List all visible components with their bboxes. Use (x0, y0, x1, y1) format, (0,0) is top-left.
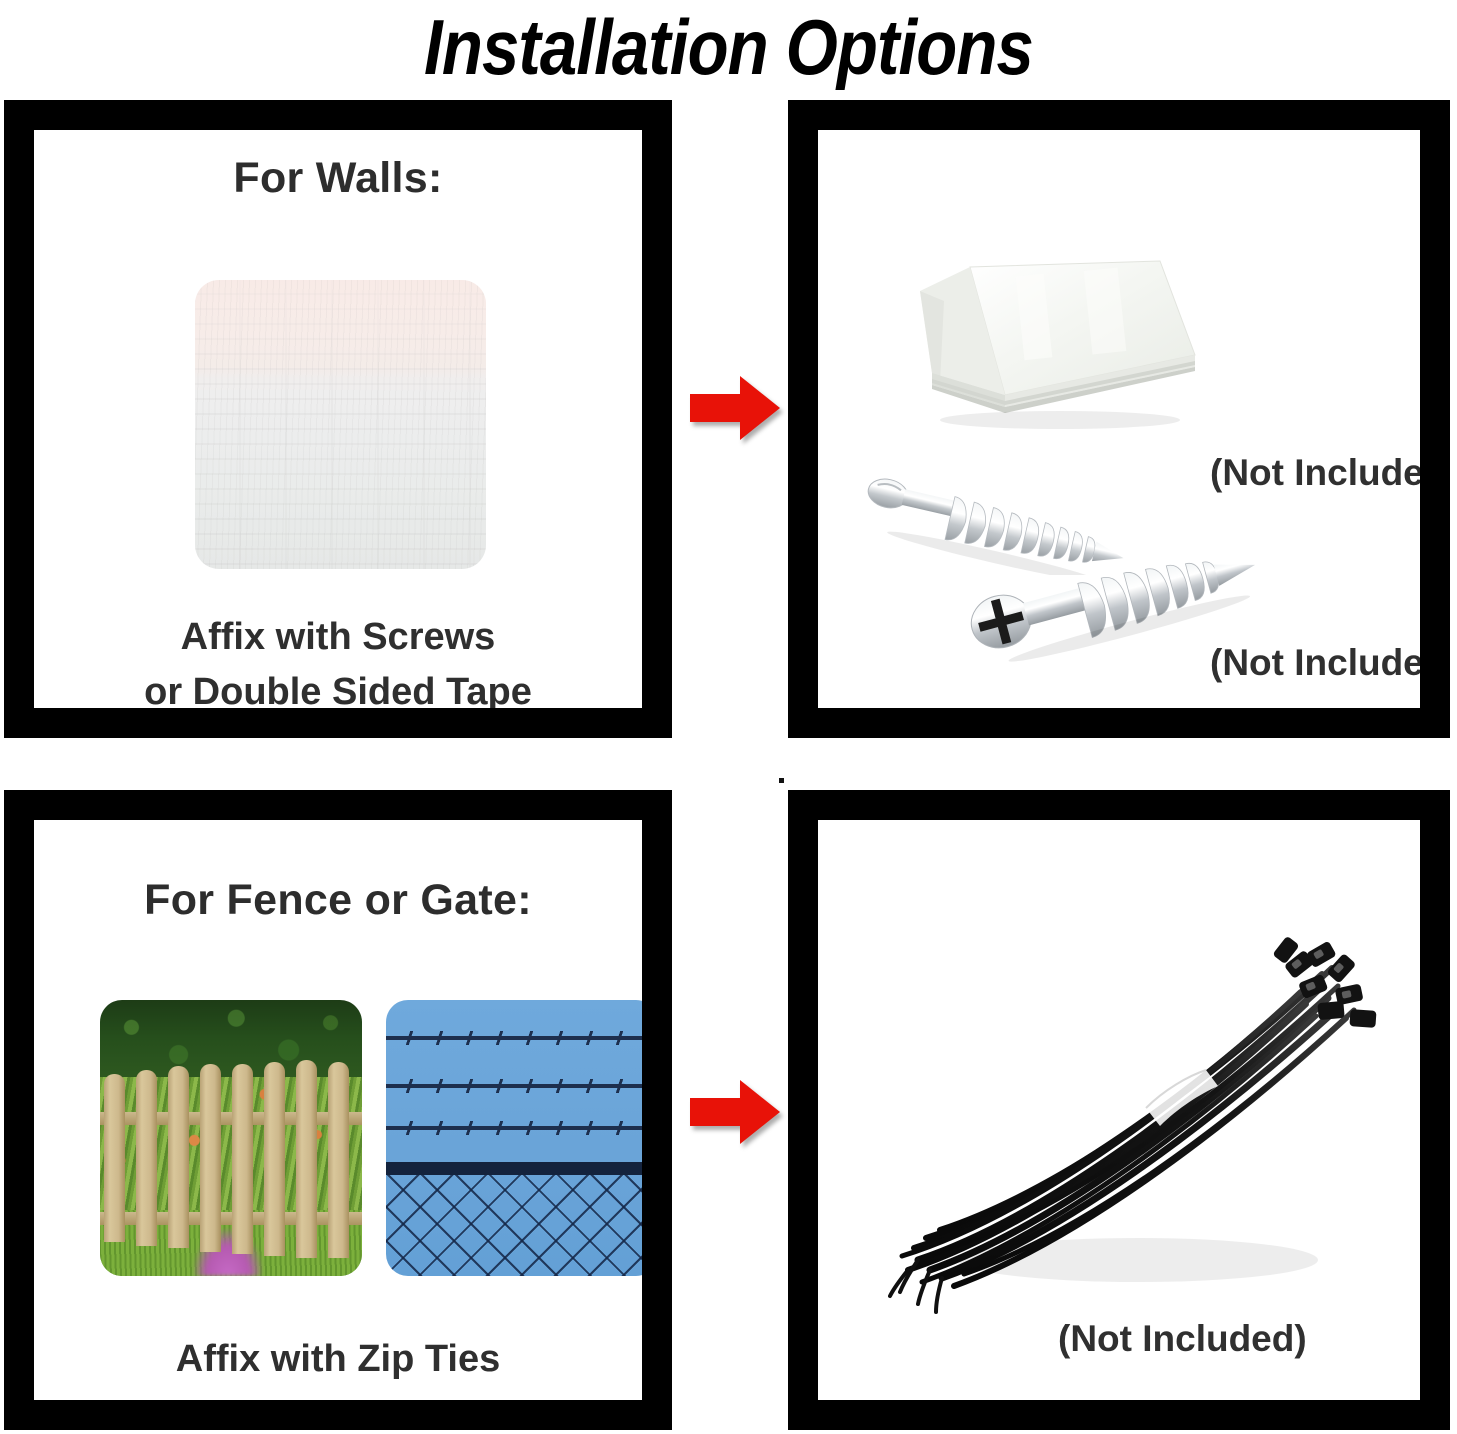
chain-link-barbed-wire-fence-image (386, 1000, 642, 1276)
fence-picket (136, 1070, 157, 1246)
zip-ties-not-included-label: (Not Included) (1058, 1318, 1307, 1360)
arrow-fence-to-hardware-icon (690, 1076, 780, 1148)
fence-picket (328, 1062, 349, 1258)
fence-picket (264, 1062, 285, 1256)
fence-picket (104, 1074, 125, 1242)
panel-fence-hardware: (Not Included) (788, 790, 1450, 1430)
panel-wall-hardware: (Not Included) (788, 100, 1450, 738)
barbed-wire-barbs (386, 1031, 642, 1045)
walls-caption-line-2: or Double Sided Tape (34, 665, 642, 708)
white-brick-wall-image (195, 280, 486, 569)
fence-picket (296, 1060, 317, 1258)
image-artifact-speck (779, 778, 784, 783)
panel-for-fence-or-gate: For Fence or Gate: (4, 790, 672, 1430)
fence-picket (200, 1064, 221, 1252)
screws-not-included-label: (Not Included) (1210, 642, 1420, 684)
chain-link-mesh (386, 1175, 642, 1276)
double-sided-tape-stack-image (910, 255, 1200, 435)
arrow-walls-to-hardware-icon (690, 372, 780, 444)
tape-not-included-label: (Not Included) (1210, 452, 1420, 494)
wall-grain (195, 280, 486, 569)
black-zip-ties-bundle-image (888, 930, 1388, 1330)
fence-caption: Affix with Zip Ties (34, 1332, 642, 1387)
wooden-picket-fence-image (100, 1000, 362, 1276)
panel-for-walls: For Walls: Affix with Screws or Double S… (4, 100, 672, 738)
installation-options-infographic: Installation Options For Walls: Affix wi… (0, 0, 1457, 1434)
walls-caption-line-1: Affix with Screws (34, 610, 642, 665)
for-fence-or-gate-heading: For Fence or Gate: (34, 876, 642, 925)
fence-picket (168, 1066, 189, 1248)
barbed-wire-barbs (386, 1121, 642, 1135)
page-title: Installation Options (102, 2, 1355, 93)
fence-top-rail (386, 1162, 642, 1175)
fence-picket (232, 1064, 253, 1254)
barbed-wire-barbs (386, 1079, 642, 1093)
for-walls-heading: For Walls: (34, 154, 642, 203)
